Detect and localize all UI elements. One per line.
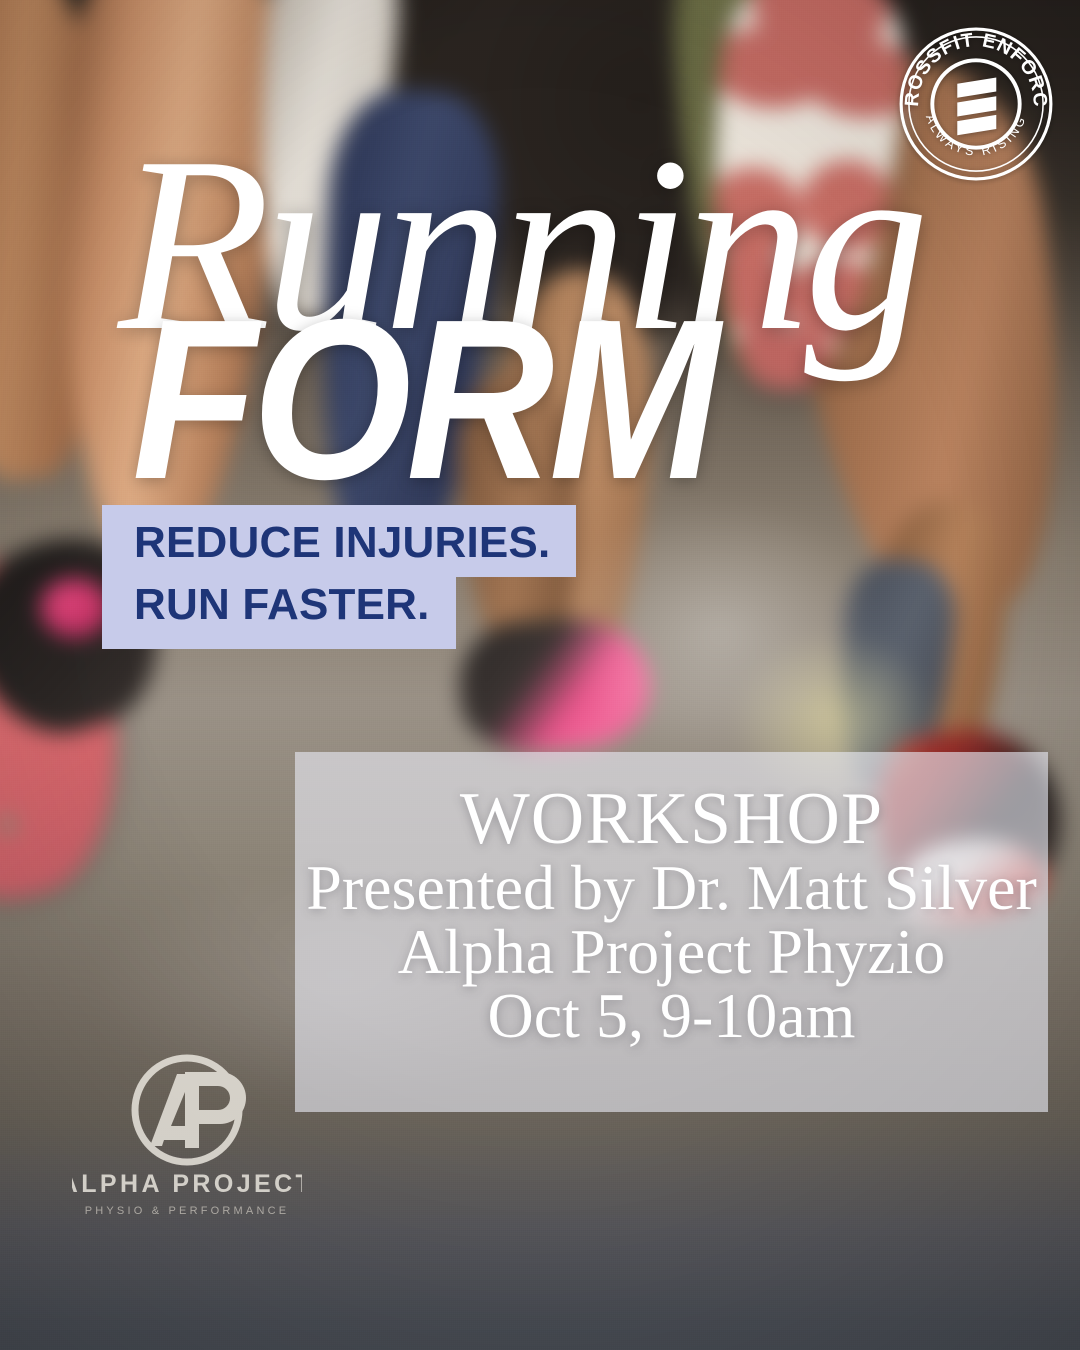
alpha-project-tagline: PHYSIO & PERFORMANCE — [85, 1205, 290, 1217]
details-organization: Alpha Project Phyzio — [398, 918, 945, 986]
subtitle-line-2: RUN FASTER. — [102, 577, 456, 649]
details-panel: WORKSHOP Presented by Dr. Matt Silver Al… — [295, 752, 1048, 1112]
badge-bars-mark — [957, 77, 996, 135]
badge-top-arc-text: CROSSFIT ENFORCE — [898, 26, 1051, 108]
alpha-project-name: ALPHA PROJECT — [72, 1170, 302, 1198]
headline-word-form: FORM — [132, 286, 714, 514]
alpha-project-ap-monogram-icon — [135, 1058, 246, 1162]
poster-content: CROSSFIT ENFORCE ALWAYS RISING Running F… — [0, 0, 1080, 1350]
details-presenter: Presented by Dr. Matt Silver — [306, 854, 1037, 922]
details-datetime: Oct 5, 9-10am — [488, 982, 856, 1050]
details-title: WORKSHOP — [460, 780, 883, 858]
alpha-project-logo: ALPHA PROJECT PHYSIO & PERFORMANCE — [72, 1048, 302, 1233]
poster-canvas: CROSSFIT ENFORCE ALWAYS RISING Running F… — [0, 0, 1080, 1350]
subtitle-block: REDUCE INJURIES. RUN FASTER. — [102, 505, 576, 649]
subtitle-line-1: REDUCE INJURIES. — [102, 505, 576, 577]
